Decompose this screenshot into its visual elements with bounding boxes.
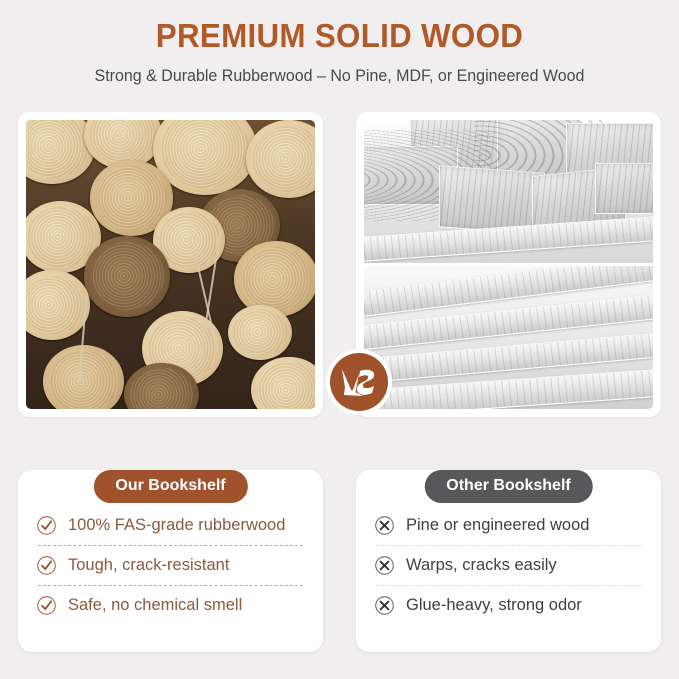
x-circle-icon bbox=[374, 515, 395, 536]
check-circle-icon bbox=[36, 515, 57, 536]
other-bookshelf-card: Other Bookshelf Pine or engineered wood … bbox=[356, 470, 661, 652]
feature-label: Glue-heavy, strong odor bbox=[406, 596, 582, 615]
feature-label: Safe, no chemical smell bbox=[68, 596, 242, 615]
feature-label: Tough, crack-resistant bbox=[68, 556, 229, 575]
engineered-panel-edges-area bbox=[364, 263, 653, 409]
comparison-cards: Our Bookshelf 100% FAS-grade rubberwood … bbox=[18, 452, 661, 657]
other-bookshelf-pill: Other Bookshelf bbox=[424, 470, 592, 503]
pine-beams-area bbox=[364, 120, 653, 263]
list-item: Warps, cracks easily bbox=[372, 546, 645, 585]
comparison-photo-row bbox=[18, 112, 661, 417]
page-subtitle: Strong & Durable Rubberwood – No Pine, M… bbox=[10, 67, 669, 87]
our-bookshelf-pill: Our Bookshelf bbox=[93, 470, 247, 503]
feature-label: Warps, cracks easily bbox=[406, 556, 557, 575]
check-circle-icon bbox=[36, 595, 57, 616]
x-circle-icon bbox=[374, 555, 395, 576]
stacked-logs-photo bbox=[26, 120, 315, 409]
our-wood-photo-frame bbox=[18, 112, 323, 417]
logs-illustration bbox=[26, 120, 315, 409]
check-circle-icon bbox=[36, 555, 57, 576]
our-feature-list: 100% FAS-grade rubberwood Tough, crack-r… bbox=[34, 506, 307, 625]
other-feature-list: Pine or engineered wood Warps, cracks ea… bbox=[372, 506, 645, 625]
other-wood-photo-frame bbox=[356, 112, 661, 417]
grayscale-lumber-photo bbox=[364, 120, 653, 409]
list-item: Pine or engineered wood bbox=[372, 506, 645, 545]
feature-label: Pine or engineered wood bbox=[406, 516, 589, 535]
header: PREMIUM SOLID WOOD Strong & Durable Rubb… bbox=[0, 0, 679, 87]
page-title: PREMIUM SOLID WOOD bbox=[17, 18, 662, 54]
x-circle-icon bbox=[374, 595, 395, 616]
feature-label: 100% FAS-grade rubberwood bbox=[68, 516, 285, 535]
list-item: Tough, crack-resistant bbox=[34, 546, 307, 585]
our-bookshelf-card: Our Bookshelf 100% FAS-grade rubberwood … bbox=[18, 470, 323, 652]
list-item: 100% FAS-grade rubberwood bbox=[34, 506, 307, 545]
list-item: Safe, no chemical smell bbox=[34, 586, 307, 625]
list-item: Glue-heavy, strong odor bbox=[372, 586, 645, 625]
vs-badge bbox=[330, 353, 388, 411]
lumber-illustration bbox=[364, 120, 653, 409]
